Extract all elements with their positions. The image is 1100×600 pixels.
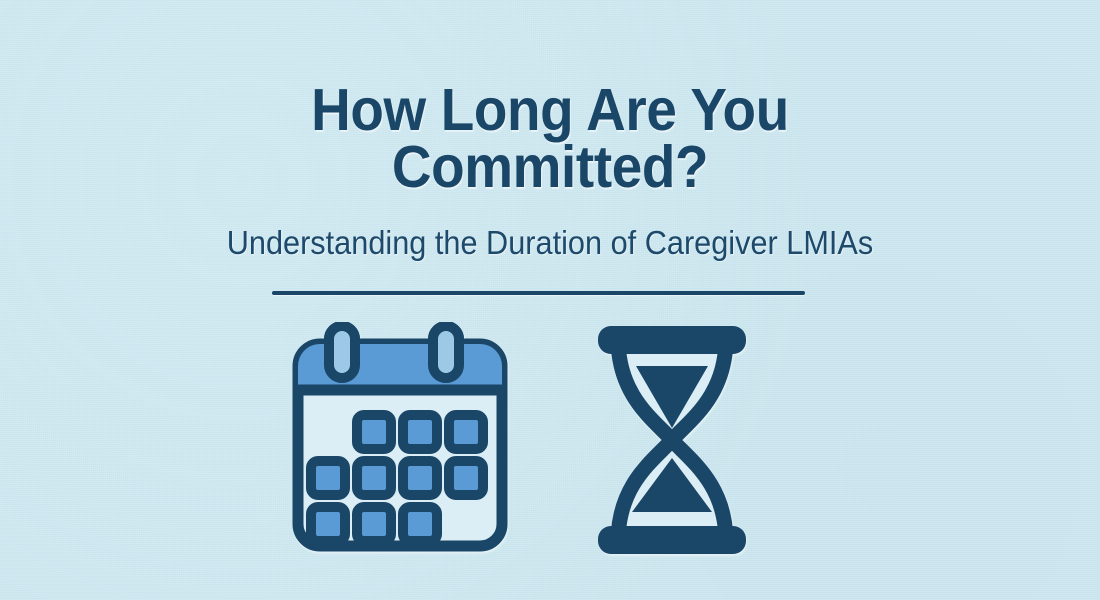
calendar-day-cell <box>403 415 437 449</box>
calendar-icon <box>288 322 516 562</box>
calendar-day-cell <box>357 507 391 541</box>
poster-canvas: How Long Are You Committed? Understandin… <box>0 0 1100 600</box>
hourglass-top-bar <box>598 326 746 354</box>
hourglass-bottom-bar <box>598 526 746 554</box>
calendar-day-cell <box>403 507 437 541</box>
calendar-day-cell <box>311 461 345 495</box>
icon-row <box>0 318 1100 558</box>
page-subtitle: Understanding the Duration of Caregiver … <box>141 226 959 261</box>
page-title: How Long Are You Committed? <box>178 82 922 196</box>
hourglass-icon <box>592 324 752 556</box>
calendar-day-cell <box>403 461 437 495</box>
calendar-day-cell <box>449 461 483 495</box>
calendar-day-cell <box>357 461 391 495</box>
calendar-day-cell <box>311 507 345 541</box>
calendar-day-cell <box>357 415 391 449</box>
calendar-day-cell <box>449 415 483 449</box>
hourglass-icon-graphic <box>592 324 752 556</box>
calendar-icon-graphic <box>288 322 516 562</box>
calendar-ring-right-front <box>433 326 459 378</box>
calendar-ring-left-front <box>329 326 355 378</box>
divider-rule <box>272 291 805 295</box>
